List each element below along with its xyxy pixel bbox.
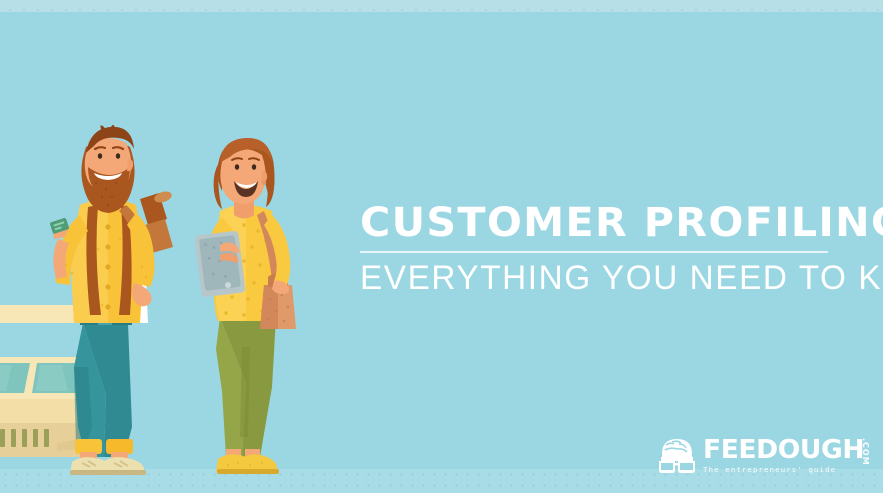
logo-domain-suffix: .COM <box>861 438 870 466</box>
bearded-man-figure <box>28 127 188 477</box>
feedough-face-glasses-icon <box>656 437 698 475</box>
banner-image: CUSTOMER PROFILING EVERYTHING YOU NEED T… <box>0 0 883 493</box>
logo-text: FEEDOUGH The entrepreneurs' guide .COM <box>703 437 861 475</box>
page-subtitle: EVERYTHING YOU NEED TO KNOW <box>360 259 821 298</box>
logo-wordmark: FEEDOUGH <box>703 437 864 463</box>
woman-with-tablet-figure <box>190 137 315 477</box>
title-underline <box>360 251 828 253</box>
feedough-logo[interactable]: FEEDOUGH The entrepreneurs' guide .COM <box>656 437 861 475</box>
logo-tagline: The entrepreneurs' guide <box>703 465 861 474</box>
headline-block: CUSTOMER PROFILING EVERYTHING YOU NEED T… <box>360 203 830 298</box>
page-title: CUSTOMER PROFILING <box>360 203 844 244</box>
